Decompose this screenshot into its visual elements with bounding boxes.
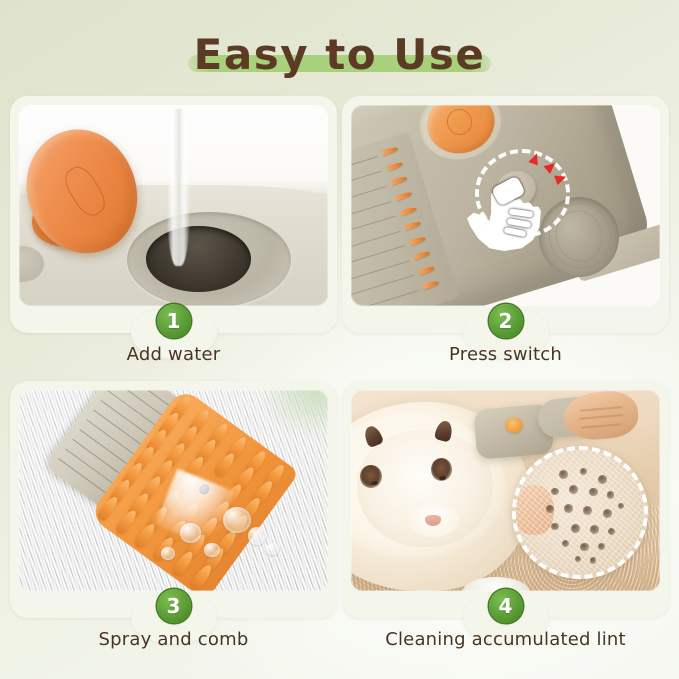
step-badge-3: 3 bbox=[157, 589, 191, 623]
page-title: Easy to Use bbox=[0, 22, 679, 88]
step-badge-2-number: 2 bbox=[499, 311, 513, 331]
step-caption-1: Add water bbox=[10, 344, 337, 365]
step-badge-1: 1 bbox=[157, 304, 191, 338]
step-badge-1-number: 1 bbox=[167, 311, 181, 331]
title-text: Easy to Use bbox=[194, 34, 486, 76]
step-card-3-photo bbox=[19, 390, 328, 591]
step-caption-3: Spray and comb bbox=[10, 629, 337, 650]
step-card-4-photo bbox=[351, 390, 660, 591]
step-badge-3-number: 3 bbox=[167, 596, 181, 616]
step-caption-2: Press switch bbox=[342, 344, 669, 365]
step-card-2-photo bbox=[351, 105, 660, 306]
step-card-1[interactable]: 1 Add water bbox=[10, 96, 337, 379]
step-badge-4: 4 bbox=[489, 589, 523, 623]
step-card-1-photo bbox=[19, 105, 328, 306]
hand-cursor-icon bbox=[462, 185, 542, 253]
step-badge-4-number: 4 bbox=[499, 596, 513, 616]
steps-grid: 1 Add water bbox=[10, 96, 669, 664]
step-card-3[interactable]: 3 Spray and comb bbox=[10, 381, 337, 664]
step-caption-4: Cleaning accumulated lint bbox=[342, 629, 669, 650]
water-stream-icon bbox=[167, 109, 190, 266]
lint-closeup-inset bbox=[512, 446, 648, 579]
step-card-2[interactable]: 2 Press switch bbox=[342, 96, 669, 379]
step-badge-2: 2 bbox=[489, 304, 523, 338]
step-card-4[interactable]: 4 Cleaning accumulated lint bbox=[342, 381, 669, 664]
